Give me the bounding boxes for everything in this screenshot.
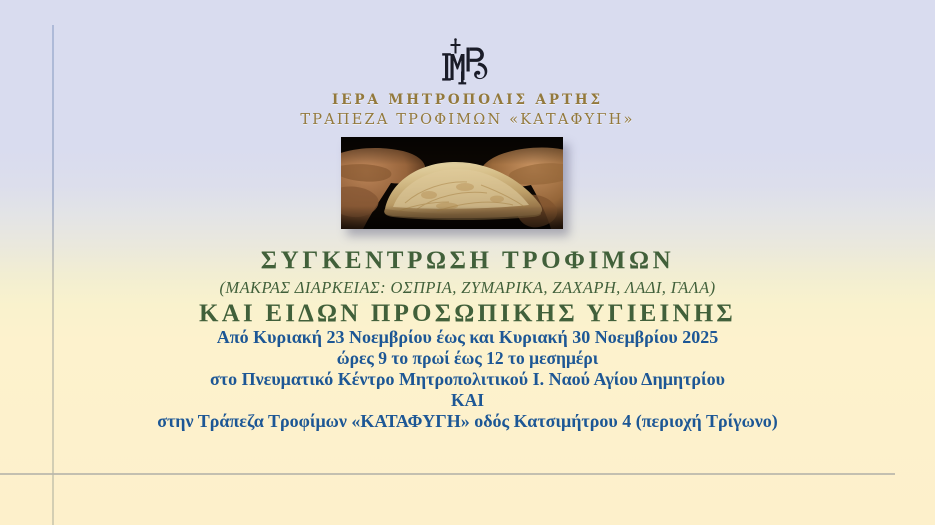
- organization-name: ΙΕΡΑ ΜΗΤΡΟΠΟΛΙΣ ΑΡΤΗΣ: [0, 92, 935, 108]
- orthodox-christogram-emblem-icon: [437, 38, 499, 86]
- food-bank-name: ΤΡΑΠΕΖΑ ΤΡΟΦΙΜΩΝ «ΚΑΤΑΦΥΓΗ»: [0, 112, 935, 128]
- detail-conjunction: ΚΑΙ: [0, 390, 935, 411]
- poster-canvas: ΙΕΡΑ ΜΗΤΡΟΠΟΛΙΣ ΑΡΤΗΣ ΤΡΑΠΕΖΑ ΤΡΟΦΙΜΩΝ «…: [0, 0, 935, 525]
- detail-venue-secondary: στην Τράπεζα Τροφίμων «ΚΑΤΑΦΥΓΗ» οδός Κα…: [0, 411, 935, 432]
- detail-venue-primary: στο Πνευματικό Κέντρο Μητροπολιτικού Ι. …: [0, 369, 935, 390]
- horizontal-rule-decoration: [0, 473, 895, 475]
- details-block: Από Κυριακή 23 Νοεμβρίου έως και Κυριακή…: [0, 327, 935, 432]
- header-block: ΙΕΡΑ ΜΗΤΡΟΠΟΛΙΣ ΑΡΤΗΣ ΤΡΑΠΕΖΑ ΤΡΟΦΙΜΩΝ «…: [0, 38, 935, 128]
- detail-hours: ώρες 9 το πρωί έως 12 το μεσημέρι: [0, 348, 935, 369]
- detail-dates: Από Κυριακή 23 Νοεμβρίου έως και Κυριακή…: [0, 327, 935, 348]
- announcement-headline-primary: ΣΥΓΚΕΝΤΡΩΣΗ ΤΡΟΦΙΜΩΝ: [0, 248, 935, 274]
- announcement-item-list: (ΜΑΚΡΑΣ ΔΙΑΡΚΕΙΑΣ: ΟΣΠΡΙΑ, ΖΥΜΑΡΙΚΑ, ΖΑΧ…: [0, 278, 935, 298]
- hands-holding-bread-photo: [341, 137, 563, 229]
- announcement-headline-secondary: ΚΑΙ ΕΙΔΩΝ ΠΡΟΣΩΠΙΚΗΣ ΥΓΙΕΙΝΗΣ: [0, 301, 935, 327]
- announcement-block: ΣΥΓΚΕΝΤΡΩΣΗ ΤΡΟΦΙΜΩΝ (ΜΑΚΡΑΣ ΔΙΑΡΚΕΙΑΣ: …: [0, 248, 935, 328]
- photo-frame: [341, 137, 563, 229]
